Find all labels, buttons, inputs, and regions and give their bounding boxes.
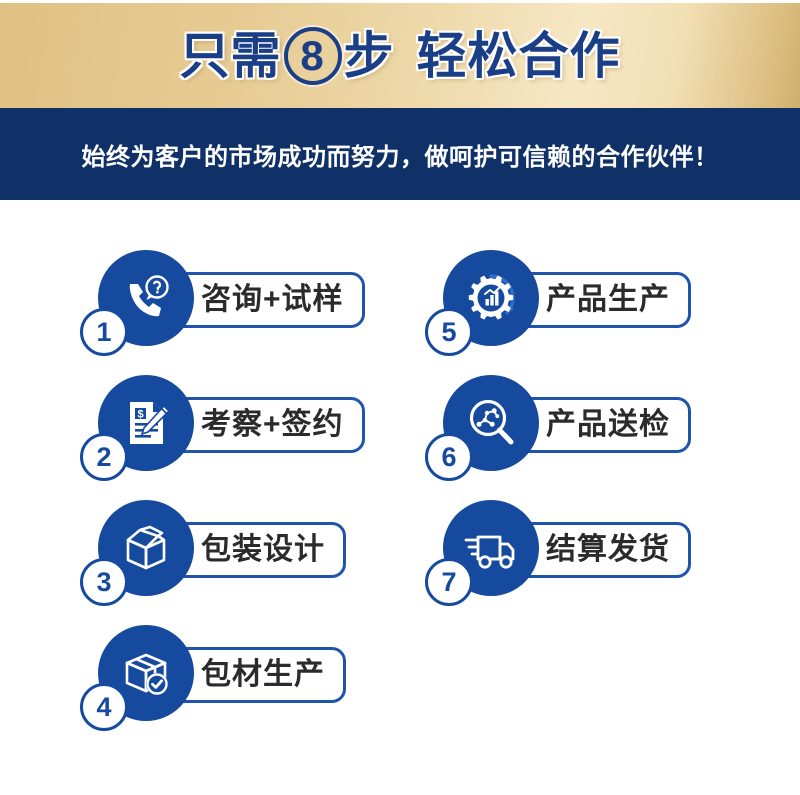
steps-container: 咨询+试样 1 考察+签约	[0, 200, 800, 795]
step-number-badge-1: 1	[80, 308, 128, 356]
subtitle-text: 始终为客户的市场成功而努力，做呵护可信赖的合作伙伴！	[82, 137, 719, 172]
open-box-icon	[116, 518, 176, 578]
step-label-4: 包材生产	[201, 660, 325, 690]
step-number-badge-4: 4	[80, 683, 128, 731]
step-count-badge: 8	[284, 27, 342, 85]
svg-text:$: $	[137, 409, 143, 421]
step-item-1[interactable]: 咨询+试样 1	[98, 250, 428, 360]
box-check-icon	[116, 643, 176, 703]
step-number-badge-5: 5	[425, 308, 473, 356]
step-number-badge-7: 7	[425, 558, 473, 606]
step-label-6: 产品送检	[546, 410, 670, 440]
step-number-badge-6: 6	[425, 433, 473, 481]
subtitle-navy-band: 始终为客户的市场成功而努力，做呵护可信赖的合作伙伴！	[0, 108, 800, 200]
step-number-badge-3: 3	[80, 558, 128, 606]
step-label-1: 咨询+试样	[201, 285, 344, 315]
step-label-5: 产品生产	[546, 285, 670, 315]
contract-pen-icon: $	[117, 394, 175, 452]
title-part-3: 轻松合作	[417, 31, 621, 81]
step-item-6[interactable]: 产品送检	[443, 375, 773, 485]
page-title: 只需 8 步 轻松合作	[180, 27, 621, 85]
header-gold-band: 只需 8 步 轻松合作	[0, 3, 800, 108]
phone-question-icon	[116, 268, 176, 328]
title-part-1: 只需	[180, 31, 282, 81]
step-item-2[interactable]: 考察+签约 $ 2	[98, 375, 428, 485]
step-item-4[interactable]: 包材生产	[98, 625, 428, 735]
step-item-3[interactable]: 包装设计 3	[98, 500, 428, 610]
magnifier-molecule-icon	[461, 393, 521, 453]
promo-banner: 只需 8 步 轻松合作 始终为客户的市场成功而努力，做呵护可信赖的合作伙伴！ 咨…	[0, 0, 800, 795]
step-item-7[interactable]: 结算发货	[443, 500, 773, 610]
step-label-2: 考察+签约	[201, 410, 344, 440]
step-number-badge-2: 2	[80, 433, 128, 481]
step-label-7: 结算发货	[546, 535, 670, 565]
title-part-2: 步	[344, 31, 395, 81]
step-item-5[interactable]: 产品生产	[443, 250, 773, 360]
step-label-3: 包装设计	[201, 535, 325, 565]
